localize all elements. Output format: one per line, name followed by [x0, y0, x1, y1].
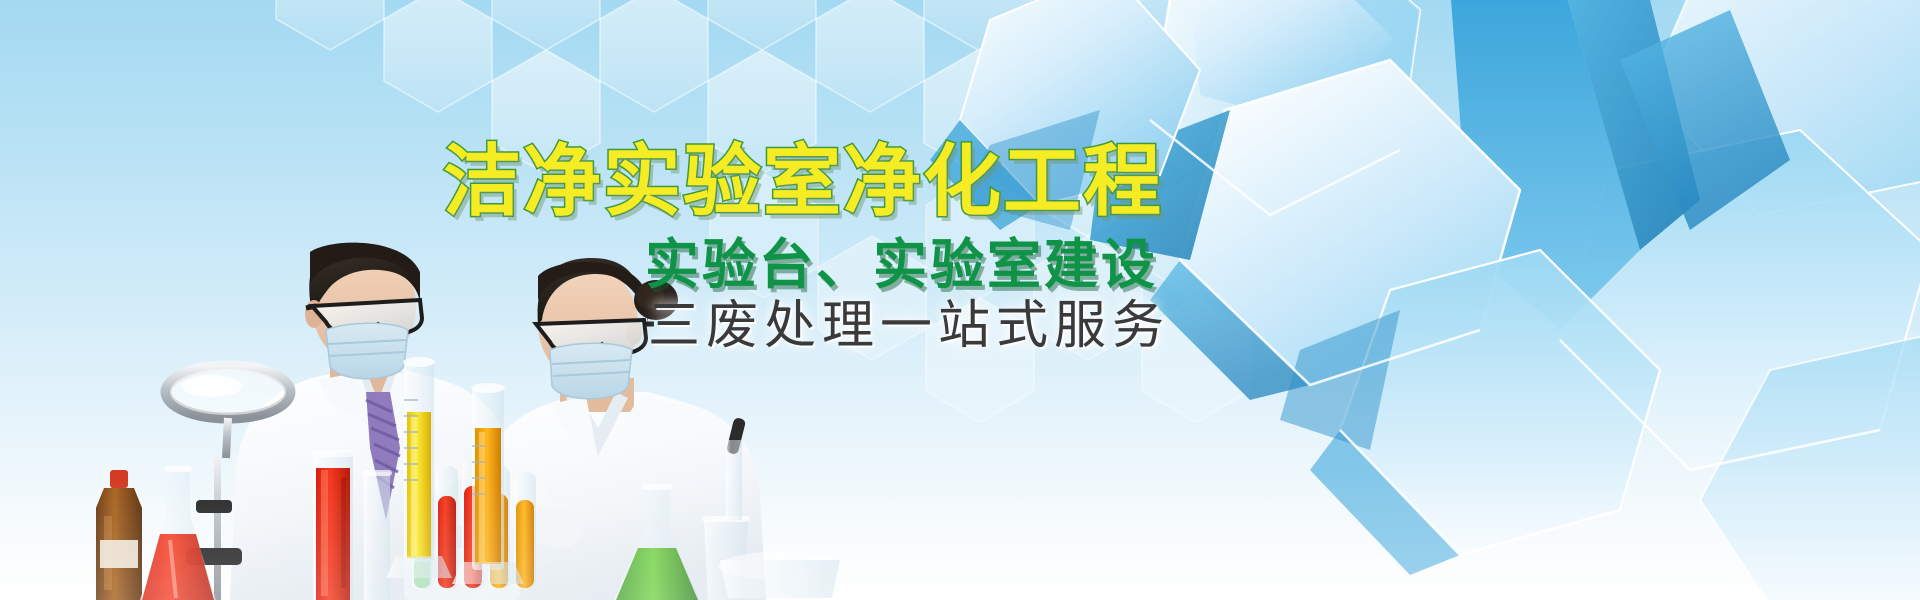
- promo-banner: 洁净实验室净化工程 实验台、实验室建设 三废处理一站式服务: [0, 0, 1920, 600]
- lab-glassware-group: [0, 0, 1920, 600]
